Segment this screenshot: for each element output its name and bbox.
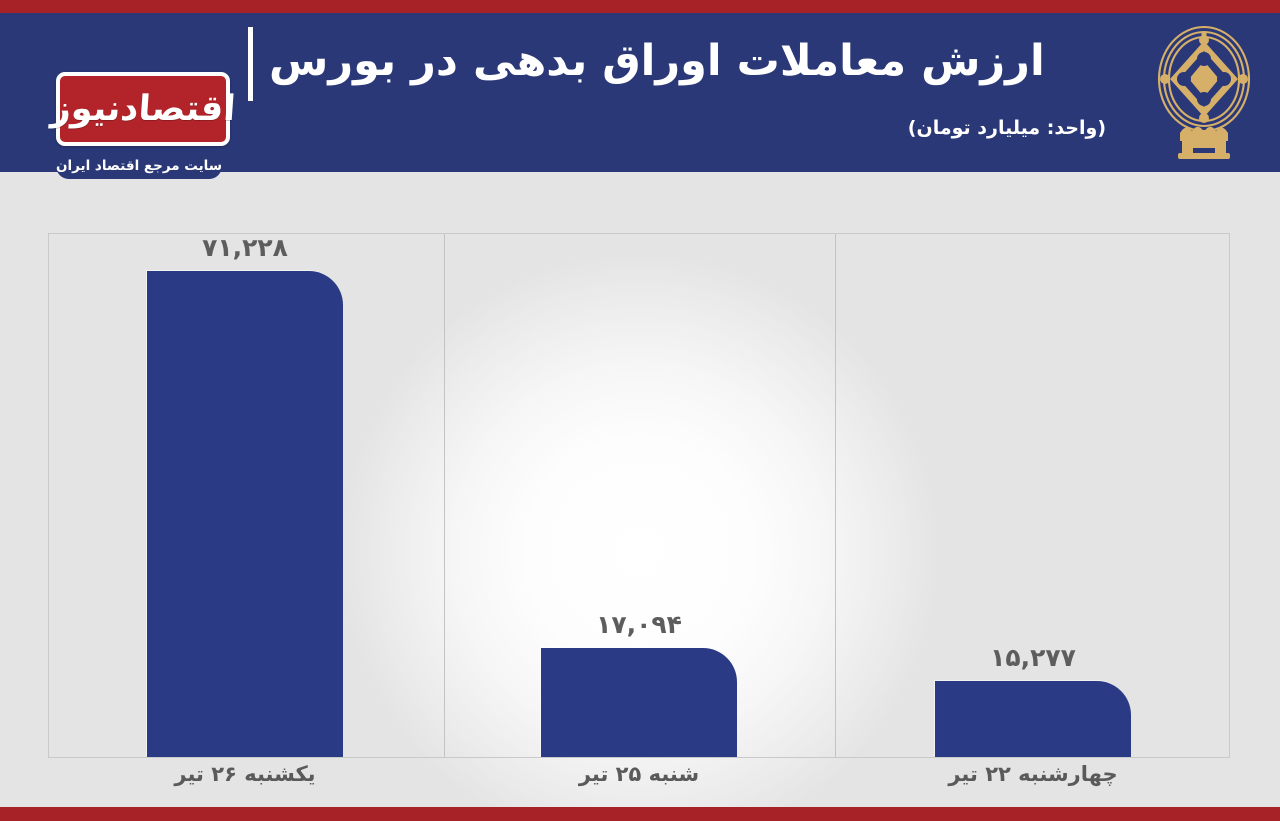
x-axis-label-cell: یکشنبه ۲۶ تیر xyxy=(48,762,442,786)
bar-0[interactable] xyxy=(935,681,1131,757)
bar-series: ۱۵,۲۷۷ ۱۷,۰۹۴ ۷۱,۲۲۸ xyxy=(48,233,1230,757)
x-axis-label-2: یکشنبه ۲۶ تیر xyxy=(174,762,315,786)
bar-value-label: ۱۵,۲۷۷ xyxy=(990,643,1076,672)
brand-tagline: سایت مرجع اقتصاد ایران xyxy=(56,158,222,174)
top-accent-band xyxy=(0,0,1280,13)
bar-2[interactable] xyxy=(147,271,343,757)
x-axis-label-0: چهارشنبه ۲۲ تیر xyxy=(948,762,1117,786)
bar-group-2: ۷۱,۲۲۸ xyxy=(147,233,343,757)
brand-name: اقتصادنیوز xyxy=(50,92,237,127)
bar-cell: ۷۱,۲۲۸ xyxy=(48,233,442,757)
bar-value-label: ۷۱,۲۲۸ xyxy=(202,233,288,262)
brand-mark: اقتصادنیوز xyxy=(56,72,230,146)
bar-value-label: ۱۷,۰۹۴ xyxy=(596,610,682,639)
tehran-stock-exchange-emblem xyxy=(1144,21,1264,167)
title-divider xyxy=(248,27,253,101)
brand-tagline-pill: سایت مرجع اقتصاد ایران xyxy=(56,153,222,179)
title-block: ارزش معاملات اوراق بدهی در بورس (واحد: م… xyxy=(248,23,1128,139)
x-axis-label-cell: شنبه ۲۵ تیر xyxy=(442,762,836,786)
infographic-canvas: ۱۵,۲۷۷ ۱۷,۰۹۴ ۷۱,۲۲۸ چهارشنبه ۲۲ تیر شنب… xyxy=(0,0,1280,821)
bar-1[interactable] xyxy=(541,648,737,757)
x-axis-labels: چهارشنبه ۲۲ تیر شنبه ۲۵ تیر یکشنبه ۲۶ تی… xyxy=(48,762,1230,786)
brand-logo[interactable]: اقتصادنیوز سایت مرجع اقتصاد ایران xyxy=(50,72,230,179)
x-axis-label-1: شنبه ۲۵ تیر xyxy=(579,762,699,786)
bar-group-1: ۱۷,۰۹۴ xyxy=(541,610,737,757)
bottom-accent-band xyxy=(0,807,1280,821)
bar-group-0: ۱۵,۲۷۷ xyxy=(935,643,1131,757)
x-axis-label-cell: چهارشنبه ۲۲ تیر xyxy=(836,762,1230,786)
unit-note: (واحد: میلیارد تومان) xyxy=(248,117,1128,139)
page-title: ارزش معاملات اوراق بدهی در بورس xyxy=(269,35,1045,89)
bar-cell: ۱۷,۰۹۴ xyxy=(442,233,836,757)
bar-cell: ۱۵,۲۷۷ xyxy=(836,233,1230,757)
